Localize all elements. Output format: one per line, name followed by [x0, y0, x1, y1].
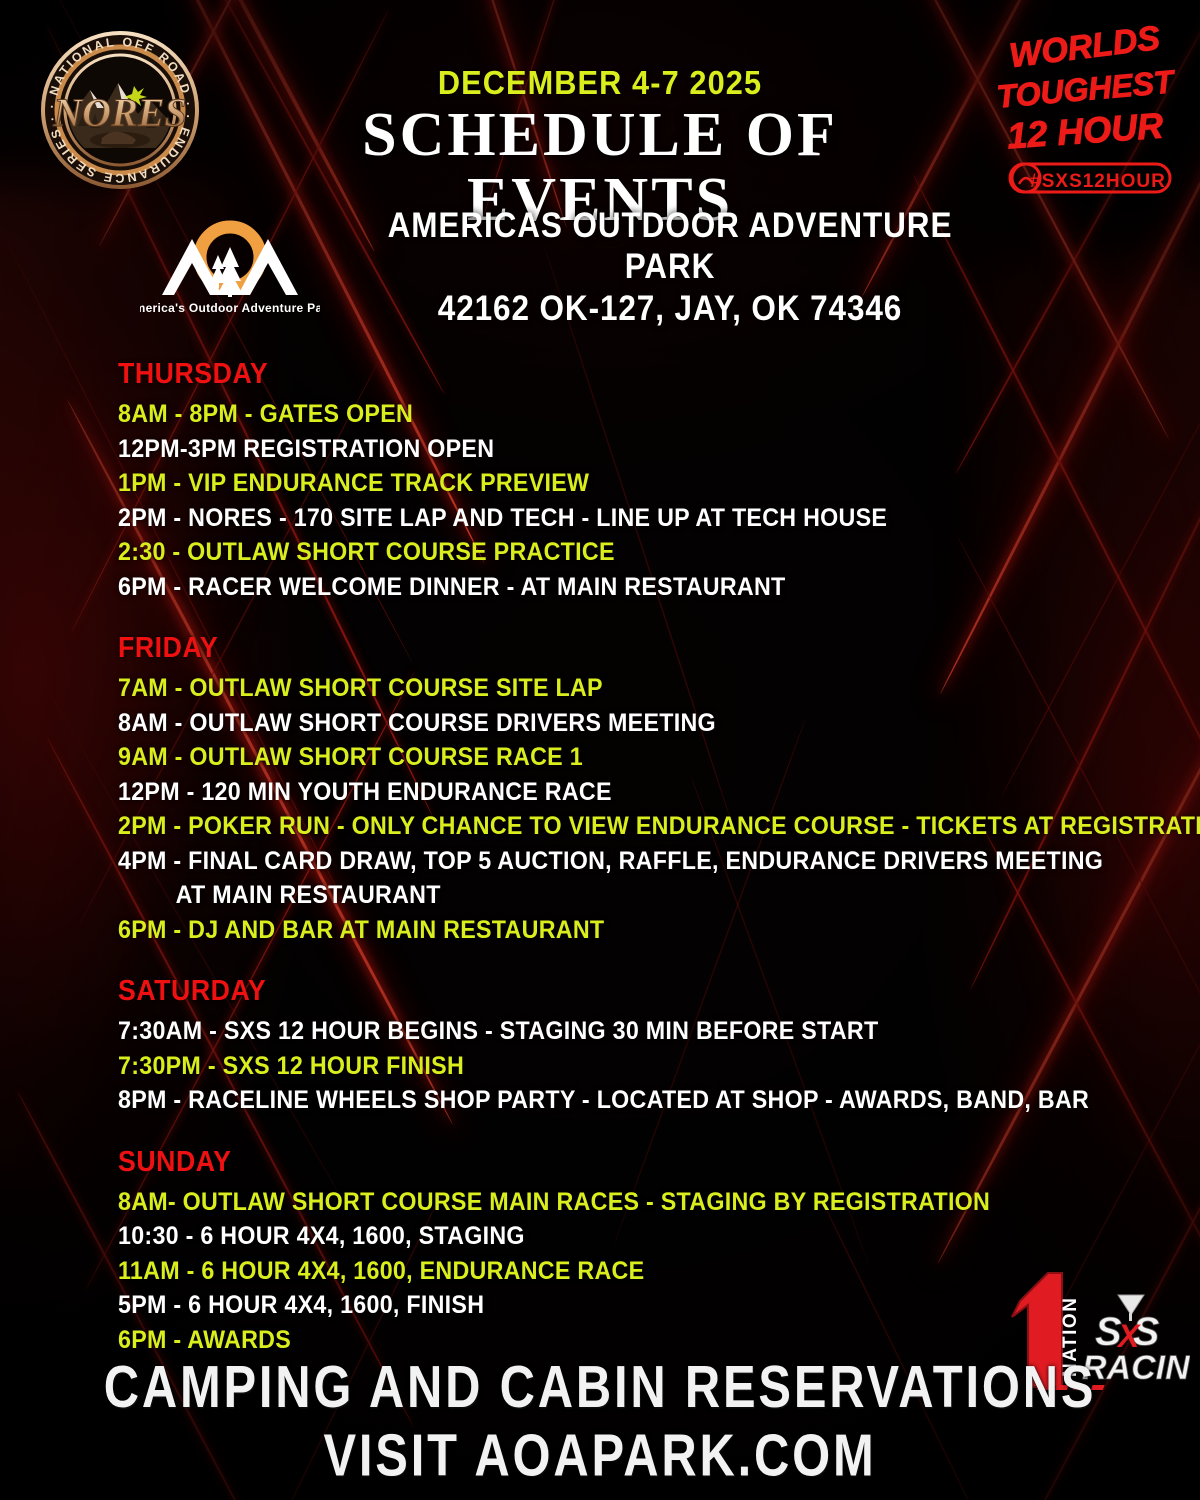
schedule-event: 2:30 - OUTLAW SHORT COURSE PRACTICE — [118, 535, 1048, 570]
footer-banner: CAMPING AND CABIN RESERVATIONS VISIT AOA… — [0, 1362, 1200, 1482]
day-heading: THURSDAY — [118, 358, 1038, 391]
nores-logo: NORES · NATIONAL OFF ROAD · · ENDURANCE … — [38, 28, 202, 192]
nores-wordmark: NORES — [52, 90, 186, 135]
wt-line3: 12 HOUR — [1006, 105, 1165, 157]
reservations-text[interactable]: CAMPING AND CABIN RESERVATIONS VISIT AOA… — [36, 1354, 1164, 1491]
schedule-event: 1PM - VIP ENDURANCE TRACK PREVIEW — [118, 466, 1048, 501]
schedule-event: AT MAIN RESTAURANT — [118, 878, 1048, 913]
schedule-event: 8PM - RACELINE WHEELS SHOP PARTY - LOCAT… — [118, 1083, 1048, 1118]
schedule-event: 6PM - RACER WELCOME DINNER - AT MAIN RES… — [118, 570, 1048, 605]
schedule-event: 2PM - POKER RUN - ONLY CHANCE TO VIEW EN… — [118, 809, 1048, 844]
schedule-event: 9AM - OUTLAW SHORT COURSE RACE 1 — [118, 740, 1048, 775]
schedule-event: 7:30PM - SXS 12 HOUR FINISH — [118, 1049, 1048, 1084]
day-block: SUNDAY8AM- OUTLAW SHORT COURSE MAIN RACE… — [118, 1146, 1118, 1358]
day-heading: FRIDAY — [118, 632, 1038, 665]
schedule-event: 7AM - OUTLAW SHORT COURSE SITE LAP — [118, 671, 1048, 706]
schedule-event: 8AM - OUTLAW SHORT COURSE DRIVERS MEETIN… — [118, 706, 1048, 741]
aoa-tagline: America's Outdoor Adventure Park — [140, 301, 320, 315]
day-block: SATURDAY7:30AM - SXS 12 HOUR BEGINS - ST… — [118, 975, 1118, 1118]
schedule-event: 11AM - 6 HOUR 4X4, 1600, ENDURANCE RACE — [118, 1254, 1048, 1289]
day-block: THURSDAY8AM - 8PM - GATES OPEN12PM-3PM R… — [118, 358, 1118, 604]
venue-block: America's Outdoor Adventure Park AMERICA… — [140, 205, 1000, 329]
schedule-event: 5PM - 6 HOUR 4X4, 1600, FINISH — [118, 1288, 1048, 1323]
event-schedule-poster: NORES · NATIONAL OFF ROAD · · ENDURANCE … — [0, 0, 1200, 1500]
venue-name: AMERICAS OUTDOOR ADVENTURE PARK — [373, 205, 967, 288]
day-heading: SATURDAY — [118, 975, 1038, 1008]
schedule-event: 12PM - 120 MIN YOUTH ENDURANCE RACE — [118, 775, 1048, 810]
worlds-toughest-12-hour-logo: WORLDS TOUGHEST 12 HOUR #SXS12HOUR — [986, 8, 1186, 198]
venue-address: 42162 OK-127, JAY, OK 74346 — [373, 288, 967, 329]
schedule-event: 2PM - NORES - 170 SITE LAP AND TECH - LI… — [118, 501, 1048, 536]
day-heading: SUNDAY — [118, 1146, 1038, 1179]
schedule-event: 12PM-3PM REGISTRATION OPEN — [118, 432, 1048, 467]
aoa-logo: America's Outdoor Adventure Park — [140, 217, 320, 317]
schedule-event: 7:30AM - SXS 12 HOUR BEGINS - STAGING 30… — [118, 1014, 1048, 1049]
event-date: DECEMBER 4-7 2025 — [256, 66, 944, 101]
schedule-list: THURSDAY8AM - 8PM - GATES OPEN12PM-3PM R… — [118, 358, 1118, 1357]
wt-hashtag: #SXS12HOUR — [1030, 171, 1166, 192]
schedule-event: 4PM - FINAL CARD DRAW, TOP 5 AUCTION, RA… — [118, 844, 1048, 879]
schedule-event: 10:30 - 6 HOUR 4X4, 1600, STAGING — [118, 1219, 1048, 1254]
day-block: FRIDAY7AM - OUTLAW SHORT COURSE SITE LAP… — [118, 632, 1118, 947]
schedule-event: 6PM - DJ AND BAR AT MAIN RESTAURANT — [118, 913, 1048, 948]
schedule-event: 6PM - AWARDS — [118, 1323, 1048, 1358]
schedule-event: 8AM- OUTLAW SHORT COURSE MAIN RACES - ST… — [118, 1185, 1048, 1220]
schedule-event: 8AM - 8PM - GATES OPEN — [118, 397, 1048, 432]
